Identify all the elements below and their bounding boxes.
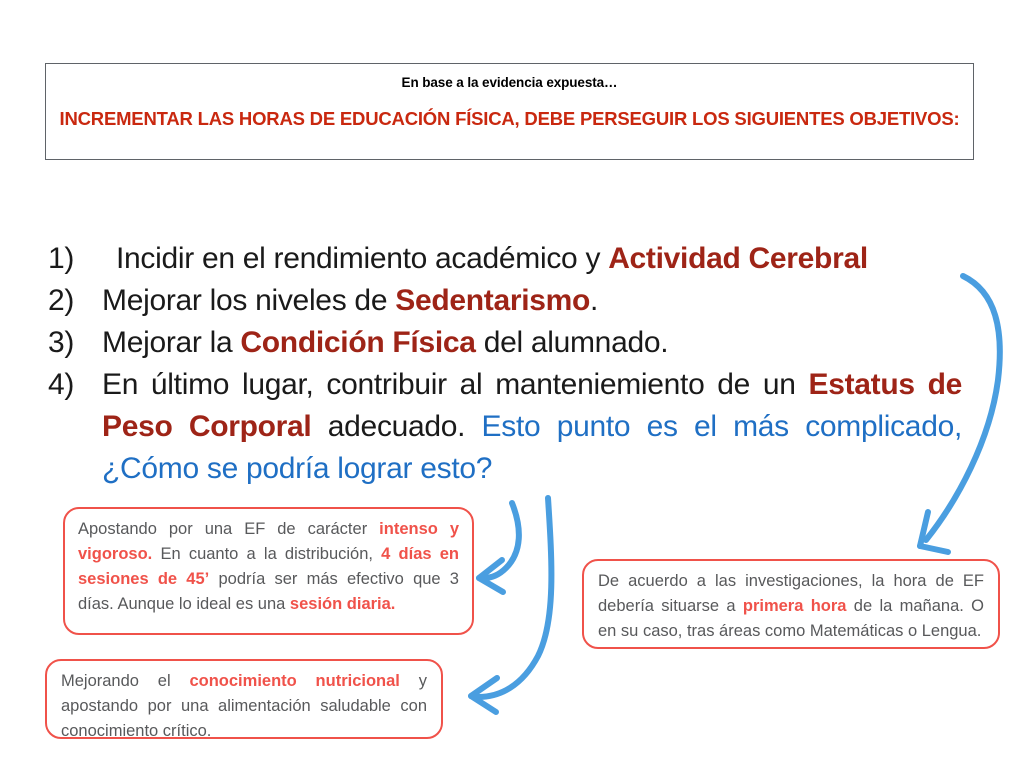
objective-number-4: 4) (48, 364, 92, 406)
header-subtitle: En base a la evidencia expuesta… (46, 75, 973, 91)
arrow-to-nutrition-box (478, 498, 551, 697)
objectives-list: 1) Incidir en el rendimiento académico y… (44, 238, 962, 490)
arrow-to-intensity-head-2 (479, 578, 503, 592)
objective-number-1: 1) (48, 238, 92, 280)
callout-schedule: De acuerdo a las investigaciones, la hor… (582, 559, 1000, 649)
header-box: En base a la evidencia expuesta… INCREME… (45, 63, 974, 160)
callout-intensity-text-1: Apostando por una EF de carácter (78, 520, 379, 538)
objective-tail-4: adecuado. (311, 410, 481, 443)
objective-number-2: 2) (48, 280, 92, 322)
objective-text-1: Incidir en el rendimiento académico y (116, 242, 608, 275)
arrow-to-intensity-box (484, 503, 519, 578)
callout-intensity-text-2: En cuanto a la distribución, (152, 545, 381, 563)
callout-schedule-highlight-1: primera hora (743, 597, 847, 615)
objective-item-4: 4)En último lugar, contribuir al manteni… (44, 364, 962, 490)
header-title-part2: , DEBE PERSEGUIR LOS SIGUIENTES OBJETIVO… (515, 108, 960, 129)
objective-highlight-3: Condición Física (240, 326, 475, 359)
objective-text-4: En último lugar, contribuir al manteniem… (102, 368, 808, 401)
objective-text-2: Mejorar los niveles de (102, 284, 395, 317)
arrow-to-nutrition-head-2 (471, 696, 496, 712)
objective-number-3: 3) (48, 322, 92, 364)
arrow-to-nutrition-head-1 (471, 678, 497, 696)
arrow-to-schedule-head-1 (920, 512, 928, 546)
callout-nutrition-highlight-1: conocimiento nutricional (189, 672, 399, 690)
callout-intensity-highlight-3: sesión diaria. (290, 595, 395, 613)
slide-canvas: En base a la evidencia expuesta… INCREME… (0, 0, 1024, 768)
objective-text-3: Mejorar la (102, 326, 240, 359)
header-title-part1: INCREMENTAR LAS HORAS DE EDUCACIÓN FÍSIC… (60, 108, 515, 129)
callout-nutrition-text-1: Mejorando el (61, 672, 189, 690)
callout-nutrition: Mejorando el conocimiento nutricional y … (45, 659, 443, 739)
objective-item-2: 2)Mejorar los niveles de Sedentarismo. (44, 280, 962, 322)
arrow-to-schedule-head-2 (920, 546, 948, 552)
arrow-to-intensity-head-1 (479, 560, 502, 578)
objective-item-1: 1) Incidir en el rendimiento académico y… (44, 238, 962, 280)
objective-highlight-1: Actividad Cerebral (608, 242, 868, 275)
objective-highlight-2: Sedentarismo (395, 284, 590, 317)
header-title: INCREMENTAR LAS HORAS DE EDUCACIÓN FÍSIC… (46, 107, 973, 131)
objective-tail-2: . (590, 284, 598, 317)
objective-tail-3: del alumnado. (476, 326, 669, 359)
callout-intensity: Apostando por una EF de carácter intenso… (63, 507, 474, 635)
objective-item-3: 3)Mejorar la Condición Física del alumna… (44, 322, 962, 364)
